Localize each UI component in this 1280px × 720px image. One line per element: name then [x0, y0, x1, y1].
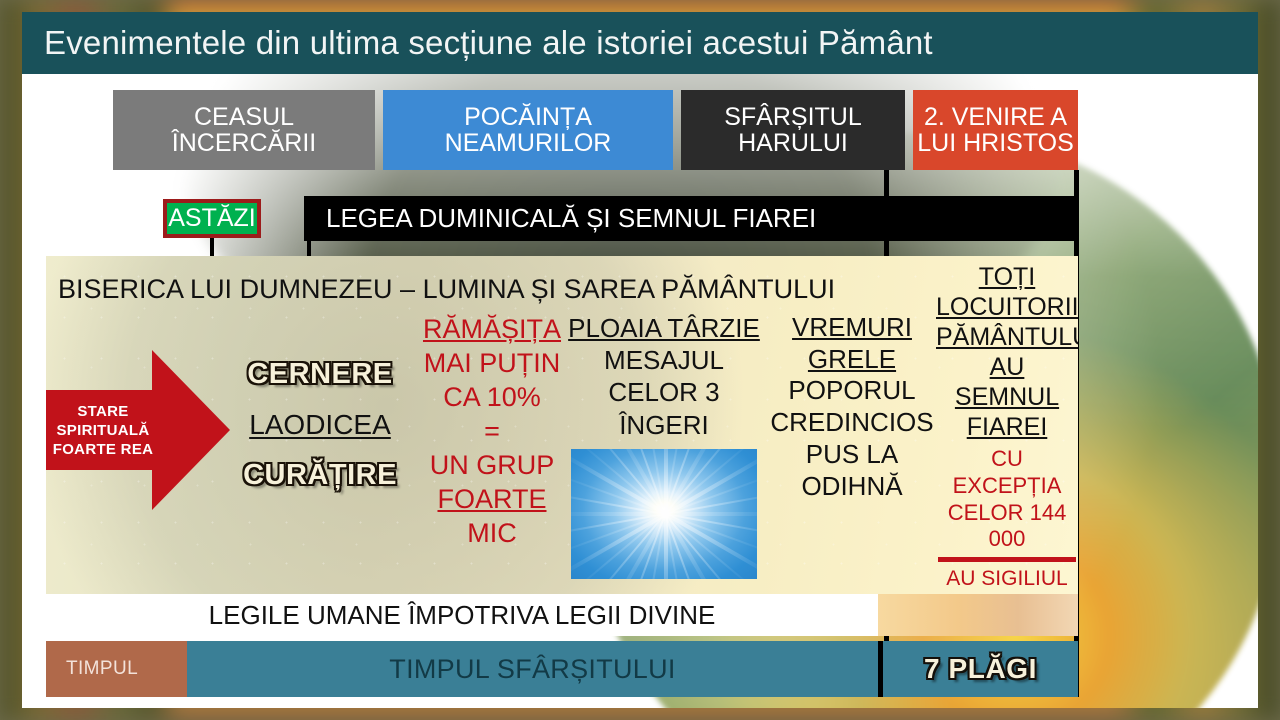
human-laws-bar: LEGILE UMANE ÎMPOTRIVA LEGII DIVINE: [46, 594, 878, 636]
red-divider: [938, 557, 1076, 562]
beast-line-4: AU SEMNUL: [936, 352, 1078, 412]
spiritual-state-arrow: STARE SPIRITUALĂ FOARTE REA: [46, 350, 230, 510]
arrow-label-line3: FOARTE REA: [50, 440, 156, 459]
astazi-label: ASTĂZI: [168, 204, 256, 233]
curatire-label: CURĂȚIRE: [236, 459, 404, 492]
ramasita-line-1: MAI PUȚIN: [412, 346, 572, 380]
ramasita-line-2: CA 10%: [412, 380, 572, 414]
human-laws-label: LEGILE UMANE ÎMPOTRIVA LEGII DIVINE: [209, 600, 716, 631]
timeline-footer: TIMPUL TIMPUL SFÂRȘITULUI 7 PLĂGI: [46, 641, 1078, 697]
timeline-middle-box: TIMPUL SFÂRȘITULUI: [187, 641, 878, 697]
beast-line-3: PĂMÂNTULUI: [936, 322, 1078, 352]
sunday-law-label: LEGEA DUMINICALĂ ȘI SEMNUL FIAREI: [304, 203, 816, 234]
phase-box-sfarsitul-harului[interactable]: SFÂRȘITUL HARULUI: [681, 90, 905, 170]
sunday-law-bar: LEGEA DUMINICALĂ ȘI SEMNUL FIAREI: [304, 196, 1078, 241]
phase-label-line2: HARULUI: [738, 130, 848, 156]
beast-line-2: LOCUITORII: [936, 292, 1078, 322]
exception-line-2: CELOR 144 000: [936, 500, 1078, 554]
ramasita-heading: RĂMĂȘIȚA: [412, 312, 572, 346]
page-title: Evenimentele din ultima secțiune ale ist…: [22, 24, 933, 62]
beast-black-block: TOȚI LOCUITORII PĂMÂNTULUI AU SEMNUL FIA…: [936, 256, 1078, 442]
column-ramasita: RĂMĂȘIȚA MAI PUȚIN CA 10% = UN GRUP FOAR…: [412, 312, 572, 550]
sunburst-image: [571, 449, 757, 579]
ploaia-heading: PLOAIA TÂRZIE: [564, 312, 764, 344]
ramasita-equals: =: [412, 414, 572, 448]
exception-line-1: CU EXCEPȚIA: [936, 446, 1078, 500]
arrow-head: [152, 350, 230, 510]
arrow-label: STARE SPIRITUALĂ FOARTE REA: [50, 402, 156, 460]
timeline-left-label-box: TIMPUL: [46, 641, 187, 697]
phase-box-ceasul-incercarii[interactable]: CEASUL ÎNCERCĂRII: [113, 90, 375, 170]
phase-label-line1: 2. VENIRE A: [924, 104, 1067, 130]
slide-title-bar: Evenimentele din ultima secțiune ale ist…: [22, 12, 1258, 74]
phase-label-line2: ÎNCERCĂRII: [172, 130, 316, 156]
ramasita-line-3: UN GRUP: [412, 448, 572, 482]
timeline-middle-label: TIMPUL SFÂRȘITULUI: [389, 654, 675, 685]
grele-label: GRELE: [770, 344, 934, 376]
cernere-label: CERNERE: [236, 358, 404, 391]
vremuri-line-3: PUS LA: [770, 439, 934, 471]
beast-line-5: FIAREI: [936, 412, 1078, 442]
ploaia-line-1: MESAJUL: [564, 344, 764, 376]
seal-line-1: AU SIGILIUL LUI: [936, 566, 1078, 594]
phase-label-line1: CEASUL: [194, 104, 294, 130]
arrow-label-line2: SPIRITUALĂ: [50, 421, 156, 440]
beast-line-1: TOȚI: [936, 262, 1078, 292]
vremuri-line-4: ODIHNĂ: [770, 471, 934, 503]
timeline-plagues-label: 7 PLĂGI: [924, 653, 1037, 685]
ploaia-line-2: CELOR 3 ÎNGERI: [564, 376, 764, 440]
laodicea-label: LAODICEA: [236, 409, 404, 441]
phase-box-pocainta-neamurilor[interactable]: POCĂINȚA NEAMURILOR: [383, 90, 673, 170]
phase-label-line1: SFÂRȘITUL: [724, 104, 862, 130]
seal-block: AU SIGILIUL LUI DUMNEZEU: [936, 566, 1078, 594]
column-vremuri-grele: VREMURI GRELE POPORUL CREDINCIOS PUS LA …: [770, 312, 934, 502]
phase-box-venirea-lui-hristos[interactable]: 2. VENIRE A LUI HRISTOS: [913, 90, 1078, 170]
vremuri-line-1: POPORUL: [770, 375, 934, 407]
column-ploaia-tarzie: PLOAIA TÂRZIE MESAJUL CELOR 3 ÎNGERI: [564, 312, 764, 579]
phase-label-line2: NEAMURILOR: [445, 130, 612, 156]
vremuri-label: VREMURI: [770, 312, 934, 344]
timeline-plagues-box: 7 PLĂGI: [878, 641, 1078, 697]
ramasita-line-4: FOARTE MIC: [412, 482, 572, 550]
ramasita-mic: MIC: [467, 518, 517, 548]
arrow-label-line1: STARE: [50, 402, 156, 421]
column-cernere: CERNERE LAODICEA CURĂȚIRE: [236, 358, 404, 492]
astazi-badge[interactable]: ASTĂZI: [163, 199, 261, 238]
timeline-left-label: TIMPUL: [46, 658, 138, 680]
exception-block: CU EXCEPȚIA CELOR 144 000: [936, 442, 1078, 553]
phase-label-line1: POCĂINȚA: [464, 104, 592, 130]
main-content-panel: BISERICA LUI DUMNEZEU – LUMINA ȘI SAREA …: [46, 256, 1078, 594]
ramasita-foarte: FOARTE: [437, 484, 546, 514]
church-heading: BISERICA LUI DUMNEZEU – LUMINA ȘI SAREA …: [58, 274, 835, 305]
vremuri-line-2: CREDINCIOS: [770, 407, 934, 439]
human-laws-bar-right-extension: [878, 594, 1078, 636]
phase-label-line2: LUI HRISTOS: [917, 130, 1074, 156]
column-mark-of-the-beast: TOȚI LOCUITORII PĂMÂNTULUI AU SEMNUL FIA…: [936, 256, 1078, 594]
